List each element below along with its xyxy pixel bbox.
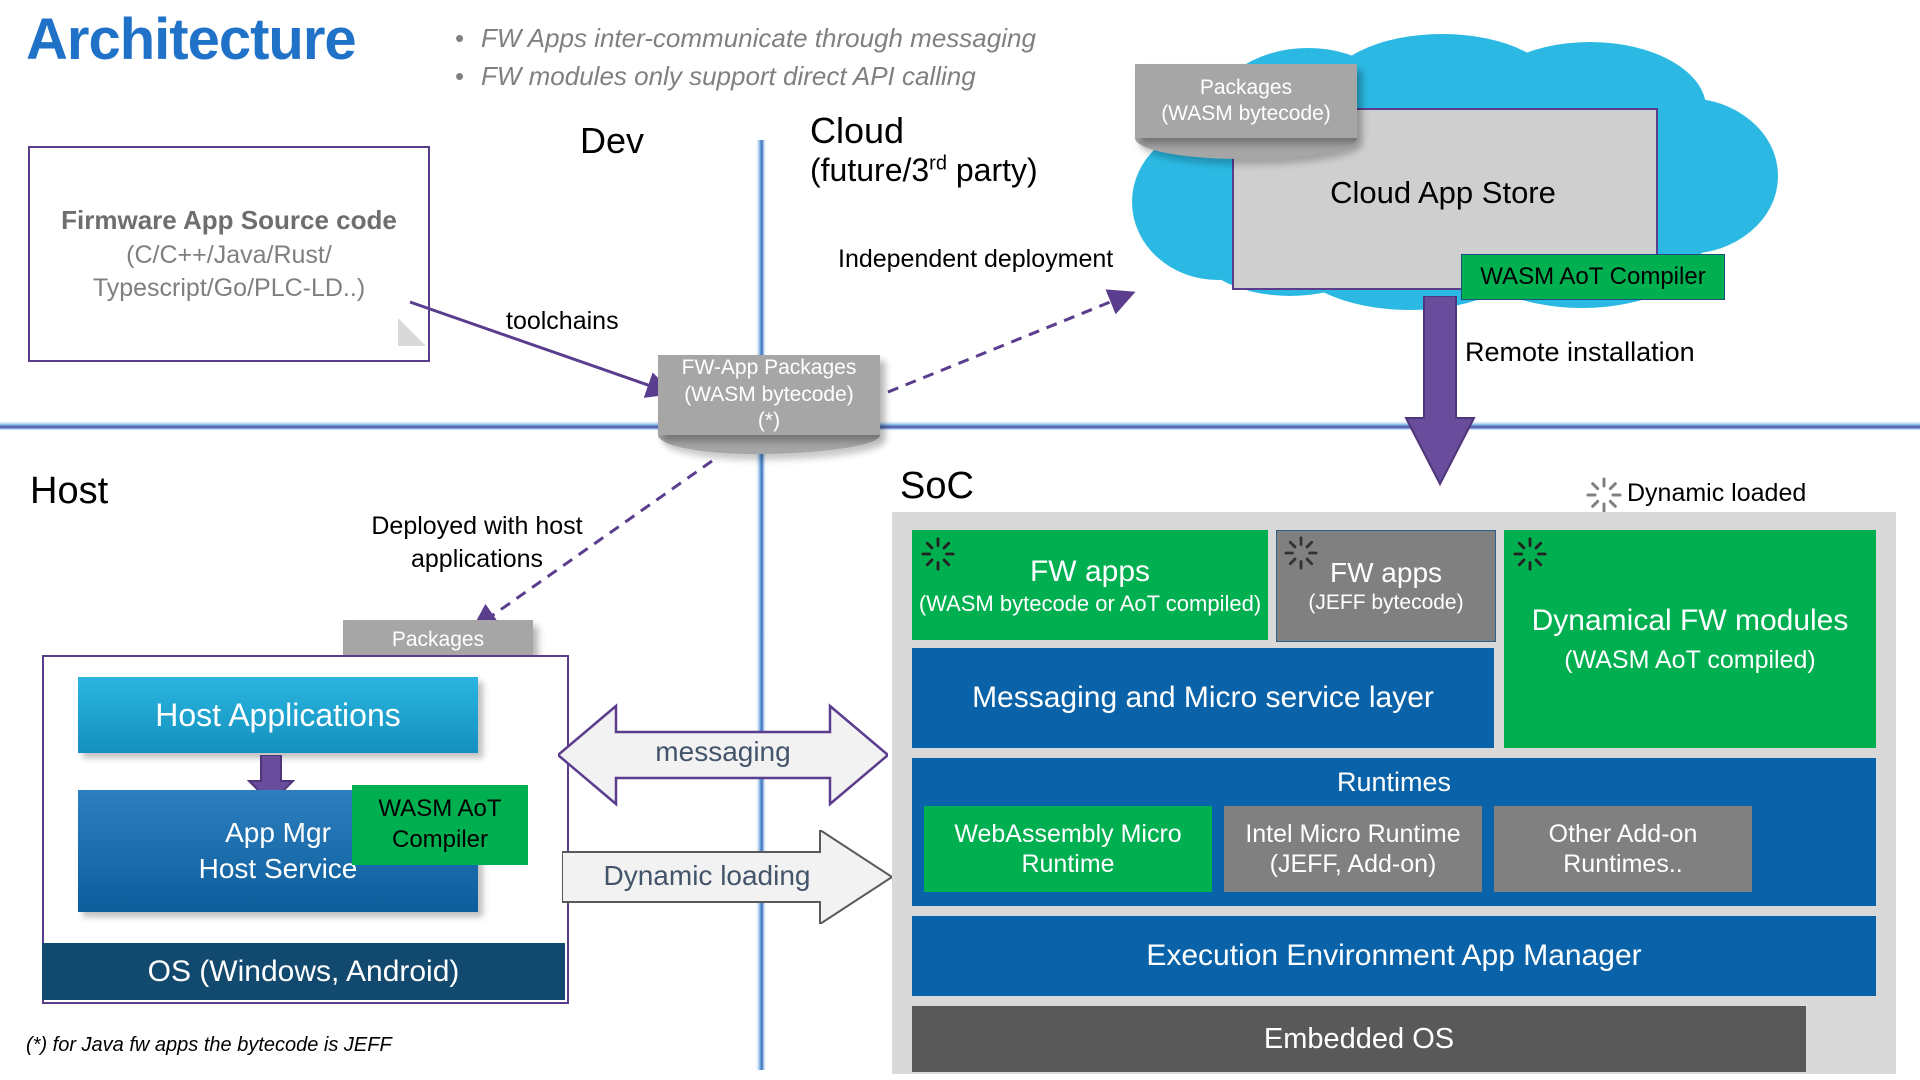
messaging-block-arrow bbox=[558, 700, 888, 810]
soc-runtime-2-l1: Other Add-on bbox=[1549, 819, 1698, 850]
source-box-line2: (C/C++/Java/Rust/ bbox=[126, 239, 332, 272]
firmware-source-code-box: Firmware App Source code (C/C++/Java/Rus… bbox=[28, 146, 430, 362]
soc-runtime-0-l2: Runtime bbox=[954, 849, 1181, 880]
soc-runtime-tile-1: Intel Micro Runtime (JEFF, Add-on) bbox=[1224, 806, 1482, 892]
soc-runtime-1-l2: (JEFF, Add-on) bbox=[1245, 849, 1460, 880]
soc-fw-apps-jeff-title: FW apps bbox=[1330, 555, 1442, 590]
soc-embedded-os-tile: Embedded OS bbox=[912, 1006, 1806, 1072]
fw-app-packages-callout-tail bbox=[658, 434, 880, 454]
bullet-text: FW modules only support direct API calli… bbox=[481, 58, 976, 96]
soc-runtime-0-l1: WebAssembly Micro bbox=[954, 819, 1181, 850]
spinner-icon bbox=[1283, 535, 1319, 571]
bullet-item: • FW Apps inter-communicate through mess… bbox=[455, 20, 1135, 58]
soc-fw-apps-wasm-subtitle: (WASM bytecode or AoT compiled) bbox=[919, 590, 1261, 618]
soc-dynamical-modules-title: Dynamical FW modules bbox=[1532, 602, 1849, 640]
soc-runtime-tile-0: WebAssembly Micro Runtime bbox=[924, 806, 1212, 892]
spinner-icon bbox=[1512, 536, 1548, 572]
bullet-text: FW Apps inter-communicate through messag… bbox=[481, 20, 1036, 58]
section-caption-cloud: Cloud (future/3rd party) bbox=[810, 110, 1038, 189]
host-os-tile: OS (Windows, Android) bbox=[42, 943, 565, 1000]
packages-cloud-callout: Packages (WASM bytecode) bbox=[1135, 64, 1357, 138]
spinner-icon bbox=[920, 536, 956, 572]
host-aot-line1: WASM AoT bbox=[378, 794, 501, 825]
deployed-with-host-label: Deployed with host applications bbox=[362, 510, 592, 575]
host-aot-line2: Compiler bbox=[392, 825, 488, 856]
source-box-title: Firmware App Source code bbox=[61, 203, 397, 237]
dynamic-loaded-legend-label: Dynamic loaded bbox=[1627, 479, 1806, 508]
packages-cloud-line1: Packages bbox=[1200, 75, 1292, 101]
packages-cloud-line2: (WASM bytecode) bbox=[1161, 101, 1331, 127]
host-wasm-aot-compiler-tile: WASM AoT Compiler bbox=[352, 785, 528, 865]
soc-runtime-1-l1: Intel Micro Runtime bbox=[1245, 819, 1460, 850]
vertical-divider bbox=[756, 140, 766, 1070]
bullet-item: • FW modules only support direct API cal… bbox=[455, 58, 1135, 96]
dynamic-loaded-spinner-icon bbox=[1585, 476, 1623, 514]
section-caption-dev: Dev bbox=[580, 120, 644, 162]
toolchains-label: toolchains bbox=[506, 307, 619, 336]
horizontal-divider bbox=[0, 421, 1920, 431]
source-box-line3: Typescript/Go/PLC-LD..) bbox=[93, 272, 365, 305]
soc-dynamical-fw-modules-tile: Dynamical FW modules (WASM AoT compiled) bbox=[1504, 530, 1876, 748]
remote-installation-arrow bbox=[1404, 296, 1476, 486]
packages-host-line1: Packages bbox=[392, 627, 484, 653]
soc-fw-apps-wasm-title: FW apps bbox=[1030, 553, 1150, 591]
soc-dynamical-modules-subtitle: (WASM AoT compiled) bbox=[1564, 645, 1815, 676]
soc-app-manager-tile: Execution Environment App Manager bbox=[912, 916, 1876, 996]
soc-panel: FW apps (WASM bytecode or AoT compiled) … bbox=[892, 512, 1896, 1074]
soc-runtimes-header: Runtimes bbox=[912, 766, 1876, 800]
soc-fw-apps-wasm-tile: FW apps (WASM bytecode or AoT compiled) bbox=[912, 530, 1268, 640]
fw-app-packages-line1: FW-App Packages bbox=[682, 355, 857, 381]
bullet-dot-icon: • bbox=[455, 58, 481, 96]
soc-runtime-2-l2: Runtimes.. bbox=[1549, 849, 1698, 880]
remote-installation-label: Remote installation bbox=[1465, 337, 1695, 368]
cloud-wasm-aot-compiler: WASM AoT Compiler bbox=[1461, 254, 1725, 300]
section-caption-host: Host bbox=[30, 470, 108, 513]
soc-fw-apps-jeff-subtitle: (JEFF bytecode) bbox=[1308, 590, 1463, 616]
soc-messaging-layer-tile: Messaging and Micro service layer bbox=[912, 648, 1494, 748]
bullet-list: • FW Apps inter-communicate through mess… bbox=[455, 20, 1135, 95]
fw-app-packages-line3: (*) bbox=[758, 408, 780, 434]
host-app-mgr-line2: Host Service bbox=[199, 851, 358, 887]
cloud-caption-sub: (future/3rd party) bbox=[810, 152, 1038, 189]
soc-runtimes-group: Runtimes WebAssembly Micro Runtime Intel… bbox=[912, 758, 1876, 906]
section-caption-soc: SoC bbox=[900, 465, 974, 508]
page-title: Architecture bbox=[26, 6, 356, 73]
host-applications-tile: Host Applications bbox=[78, 677, 478, 753]
dynamic-loading-block-arrow bbox=[562, 830, 892, 924]
soc-fw-apps-jeff-tile: FW apps (JEFF bytecode) bbox=[1276, 530, 1496, 642]
independent-deployment-label: Independent deployment bbox=[838, 245, 1113, 274]
fw-app-packages-line2: (WASM bytecode) bbox=[684, 382, 854, 408]
soc-runtime-tile-2: Other Add-on Runtimes.. bbox=[1494, 806, 1752, 892]
fw-app-packages-callout: FW-App Packages (WASM bytecode) (*) bbox=[658, 355, 880, 435]
cloud-caption-main: Cloud bbox=[810, 110, 1038, 152]
cloud-app-store-label: Cloud App Store bbox=[1232, 175, 1654, 211]
independent-deployment-arrow bbox=[880, 280, 1200, 400]
footnote: (*) for Java fw apps the bytecode is JEF… bbox=[26, 1034, 392, 1057]
bullet-dot-icon: • bbox=[455, 20, 481, 58]
host-app-mgr-line1: App Mgr bbox=[225, 815, 331, 851]
